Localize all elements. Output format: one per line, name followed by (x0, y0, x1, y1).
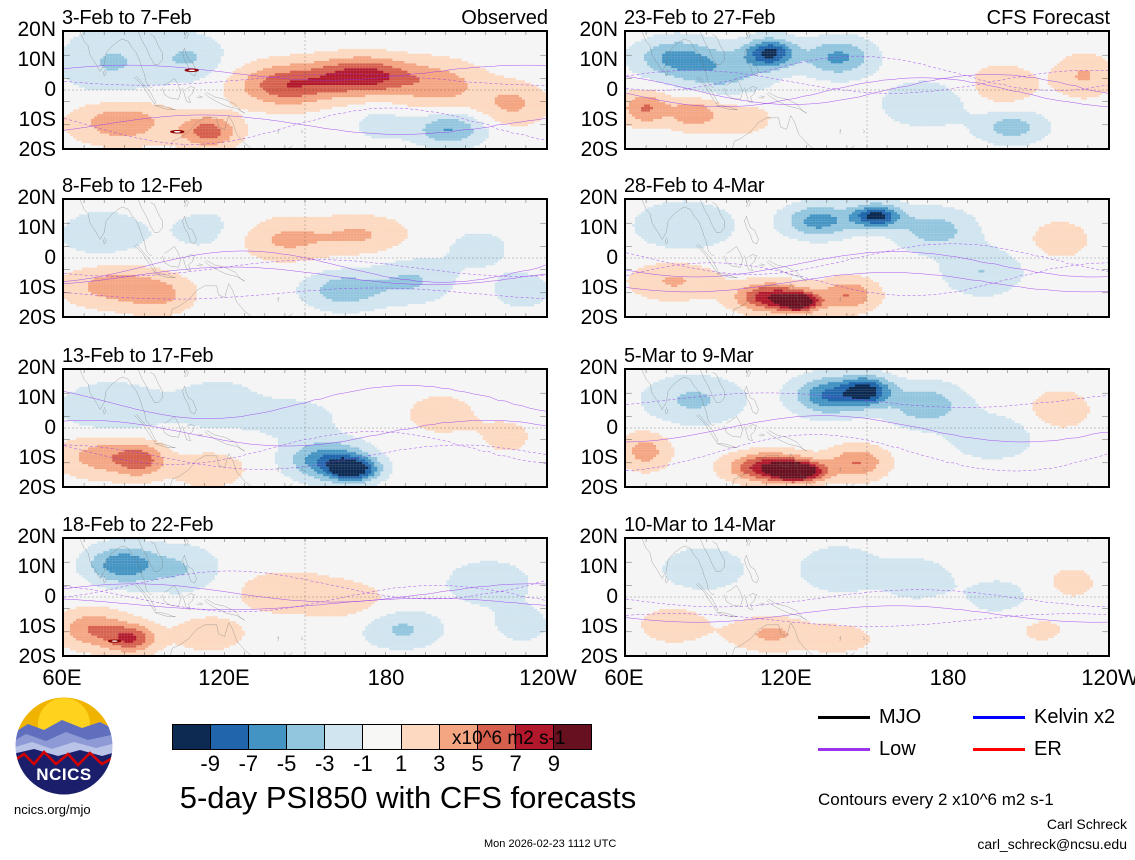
map-area (624, 368, 1110, 488)
ncics-logo-icon: NCICS (12, 694, 116, 798)
y-tick-20N: 20N (17, 525, 56, 549)
x-tick-180: 180 (368, 665, 405, 691)
legend-line-icon (973, 716, 1025, 719)
panel-8-feb-to-12-feb: 8-Feb to 12-Feb20N10N010S20S (62, 198, 548, 318)
colorbar-swatch-2 (249, 725, 287, 749)
y-axis-labels: 20N10N010S20S (562, 368, 624, 488)
colorbar-units-label: x10^6 m2 s-1 (452, 728, 565, 750)
x-tick-180: 180 (930, 665, 967, 691)
y-tick-20N: 20N (579, 186, 618, 210)
y-axis-labels: 20N10N010S20S (0, 30, 62, 150)
y-axis-labels: 20N10N010S20S (0, 368, 62, 488)
x-tick-120E: 120E (198, 665, 249, 691)
colorbar-tick-9: 9 (548, 751, 560, 777)
y-axis-labels: 20N10N010S20S (562, 198, 624, 318)
panel-title: 5-Mar to 9-Mar (624, 345, 753, 368)
y-axis-labels: 20N10N010S20S (562, 537, 624, 657)
y-tick-20S: 20S (581, 138, 618, 162)
y-tick-10N: 10N (17, 555, 56, 579)
panel-title: 18-Feb to 22-Feb (62, 514, 213, 537)
colorbar-tick-7: 7 (510, 751, 522, 777)
map-area (624, 537, 1110, 657)
colorbar-swatch-0 (173, 725, 211, 749)
panel-3-feb-to-7-feb: 3-Feb to 7-FebObserved20N10N010S20S (62, 30, 548, 150)
y-tick-20S: 20S (19, 306, 56, 330)
y-tick-20N: 20N (17, 356, 56, 380)
y-tick-10S: 10S (581, 446, 618, 470)
panel-title: 8-Feb to 12-Feb (62, 175, 202, 198)
colorbar-swatch-4 (325, 725, 363, 749)
colorbar-tick--3: -3 (315, 751, 335, 777)
x-axis-labels: 60E120E180120W (62, 657, 548, 691)
panel-18-feb-to-22-feb: 18-Feb to 22-Feb20N10N010S20S60E120E1801… (62, 537, 548, 657)
contour-interval-note: Contours every 2 x10^6 m2 s-1 (818, 790, 1054, 810)
y-tick-20N: 20N (17, 18, 56, 42)
panel-title: 13-Feb to 17-Feb (62, 345, 213, 368)
map-area (62, 537, 548, 657)
y-tick-0: 0 (606, 78, 618, 102)
map-area (62, 198, 548, 318)
colorbar-tick--7: -7 (239, 751, 259, 777)
column-header: Observed (461, 7, 548, 30)
y-tick-20N: 20N (17, 186, 56, 210)
colorbar-swatch-3 (287, 725, 325, 749)
y-tick-10S: 10S (19, 276, 56, 300)
map-area (62, 30, 548, 150)
legend-item-er: ER (973, 738, 1128, 761)
map-area (624, 198, 1110, 318)
y-tick-20S: 20S (19, 476, 56, 500)
legend-item-mjo: MJO (818, 706, 973, 729)
y-tick-0: 0 (44, 416, 56, 440)
y-tick-0: 0 (44, 585, 56, 609)
y-tick-10N: 10N (579, 555, 618, 579)
author-name: Carl Schreck (1047, 816, 1127, 832)
ncics-logo-text: NCICS (36, 765, 91, 784)
legend-label: MJO (879, 706, 921, 729)
x-tick-60E: 60E (604, 665, 643, 691)
panel-grid: 3-Feb to 7-FebObserved20N10N010S20S8-Feb… (0, 0, 1135, 690)
panel-10-mar-to-14-mar: 10-Mar to 14-Mar20N10N010S20S60E120E1801… (624, 537, 1110, 657)
column-header: CFS Forecast (987, 7, 1110, 30)
x-tick-120E: 120E (760, 665, 811, 691)
y-tick-10N: 10N (17, 386, 56, 410)
panel-title: 23-Feb to 27-Feb (624, 7, 775, 30)
legend-label: ER (1034, 738, 1062, 761)
timestamp: Mon 2026-02-23 1112 UTC (484, 838, 616, 850)
legend-label: Low (879, 738, 916, 761)
y-axis-labels: 20N10N010S20S (562, 30, 624, 150)
legend-label: Kelvin x2 (1034, 706, 1115, 729)
legend-item-kelvin-x2: Kelvin x2 (973, 706, 1128, 729)
colorbar-tick--1: -1 (353, 751, 373, 777)
colorbar-tick-labels: -9-7-5-3-113579 (172, 750, 592, 778)
y-tick-0: 0 (606, 246, 618, 270)
y-tick-20N: 20N (579, 356, 618, 380)
legend-row: LowER (818, 738, 1128, 761)
y-tick-10S: 10S (581, 615, 618, 639)
map-area (62, 368, 548, 488)
y-tick-20S: 20S (581, 476, 618, 500)
colorbar-tick-3: 3 (433, 751, 445, 777)
y-tick-10N: 10N (579, 386, 618, 410)
y-tick-20S: 20S (19, 138, 56, 162)
y-tick-10S: 10S (19, 615, 56, 639)
ncics-logo-block: NCICS ncics.org/mjo (12, 694, 132, 817)
contour-legend: MJOKelvin x2LowER (818, 706, 1128, 770)
panel-23-feb-to-27-feb: 23-Feb to 27-FebCFS Forecast20N10N010S20… (624, 30, 1110, 150)
x-tick-120W: 120W (1081, 665, 1135, 691)
legend-line-icon (818, 748, 870, 751)
legend-item-low: Low (818, 738, 973, 761)
y-tick-20N: 20N (579, 525, 618, 549)
y-tick-0: 0 (606, 585, 618, 609)
legend-row: MJOKelvin x2 (818, 706, 1128, 729)
legend-line-icon (818, 716, 870, 719)
y-tick-10S: 10S (581, 276, 618, 300)
y-axis-labels: 20N10N010S20S (0, 537, 62, 657)
colorbar-tick--5: -5 (277, 751, 297, 777)
y-tick-10N: 10N (17, 48, 56, 72)
y-tick-10N: 10N (579, 48, 618, 72)
y-tick-10S: 10S (19, 108, 56, 132)
colorbar-tick--9: -9 (200, 751, 220, 777)
x-axis-labels: 60E120E180120W (624, 657, 1110, 691)
y-tick-10N: 10N (17, 216, 56, 240)
y-tick-20S: 20S (581, 306, 618, 330)
legend-line-icon (973, 748, 1025, 751)
panel-28-feb-to-4-mar: 28-Feb to 4-Mar20N10N010S20S (624, 198, 1110, 318)
colorbar-tick-1: 1 (395, 751, 407, 777)
author-email[interactable]: carl_schreck@ncsu.edu (977, 836, 1127, 852)
y-tick-10S: 10S (581, 108, 618, 132)
y-tick-10S: 10S (19, 446, 56, 470)
panel-13-feb-to-17-feb: 13-Feb to 17-Feb20N10N010S20S (62, 368, 548, 488)
y-tick-0: 0 (606, 416, 618, 440)
colorbar-swatch-5 (363, 725, 401, 749)
map-area (624, 30, 1110, 150)
x-tick-60E: 60E (42, 665, 81, 691)
panel-title: 10-Mar to 14-Mar (624, 514, 775, 537)
y-tick-0: 0 (44, 78, 56, 102)
colorbar-swatch-1 (211, 725, 249, 749)
y-axis-labels: 20N10N010S20S (0, 198, 62, 318)
colorbar-swatch-6 (402, 725, 440, 749)
panel-title: 28-Feb to 4-Mar (624, 175, 764, 198)
y-tick-10N: 10N (579, 216, 618, 240)
y-tick-0: 0 (44, 246, 56, 270)
ncics-website-link[interactable]: ncics.org/mjo (12, 802, 132, 817)
colorbar-tick-5: 5 (471, 751, 483, 777)
x-tick-120W: 120W (519, 665, 576, 691)
y-tick-20N: 20N (579, 18, 618, 42)
figure-title: 5-day PSI850 with CFS forecasts (168, 780, 648, 816)
panel-5-mar-to-9-mar: 5-Mar to 9-Mar20N10N010S20S (624, 368, 1110, 488)
panel-title: 3-Feb to 7-Feb (62, 7, 192, 30)
